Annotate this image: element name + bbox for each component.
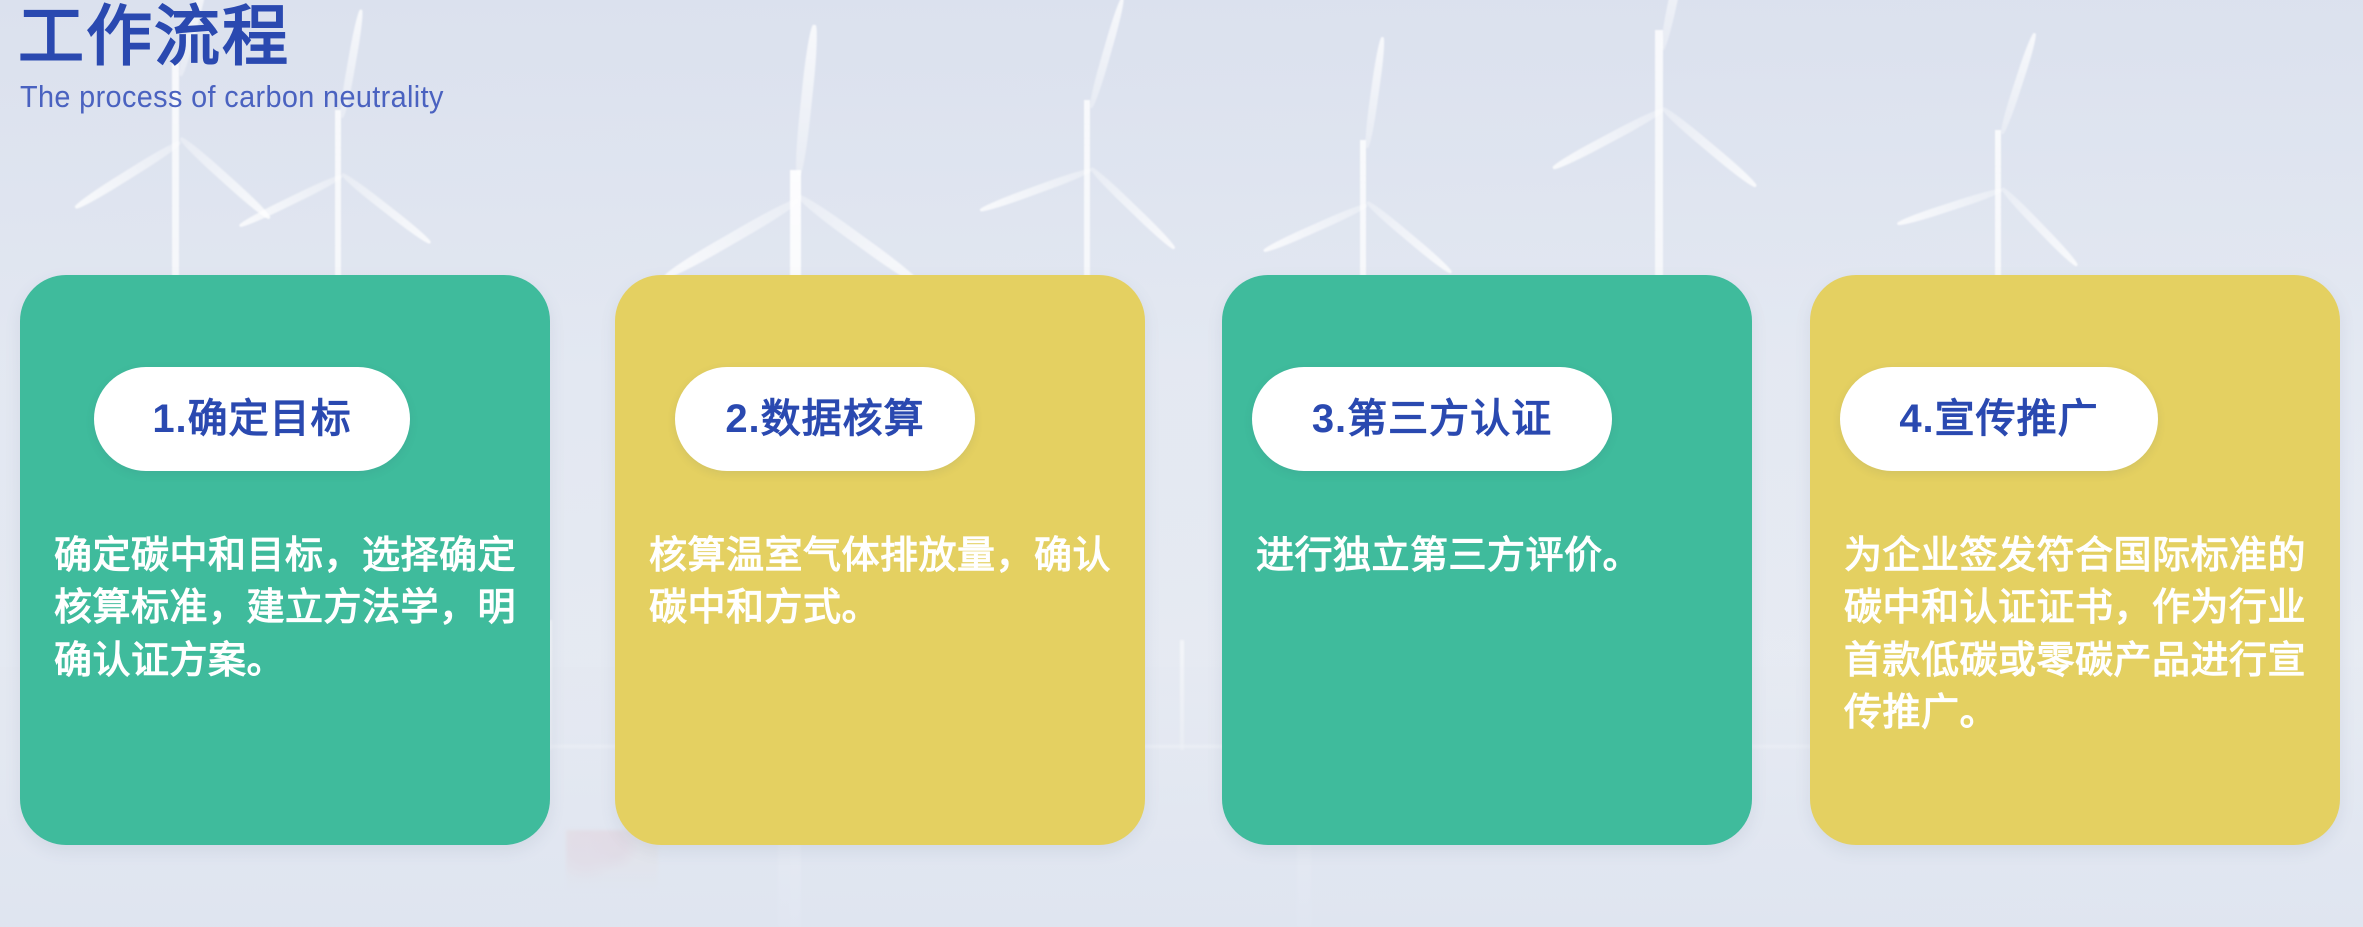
step-badge-label: 2.数据核算 [725,399,924,439]
step-badge-label: 4.宣传推广 [1899,399,2098,439]
process-card-1[interactable]: 1.确定目标 确定碳中和目标，选择确定核算标准，建立方法学，明确认证方案。 [20,275,550,845]
step-badge-3[interactable]: 3.第三方认证 [1252,367,1612,471]
step-description-3: 进行独立第三方评价。 [1256,530,1730,582]
step-badge-label: 3.第三方认证 [1312,399,1552,439]
step-badge-label: 1.确定目标 [152,399,351,439]
process-card-3[interactable]: 3.第三方认证 进行独立第三方评价。 [1222,275,1752,845]
step-badge-2[interactable]: 2.数据核算 [675,367,975,471]
step-badge-1[interactable]: 1.确定目标 [94,367,410,471]
process-card-list: 1.确定目标 确定碳中和目标，选择确定核算标准，建立方法学，明确认证方案。 2.… [0,0,2363,927]
process-card-2[interactable]: 2.数据核算 核算温室气体排放量，确认碳中和方式。 [615,275,1145,845]
step-description-4: 为企业签发符合国际标准的碳中和认证证书，作为行业首款低碳或零碳产品进行宣传推广。 [1844,530,2318,740]
process-card-4[interactable]: 4.宣传推广 为企业签发符合国际标准的碳中和认证证书，作为行业首款低碳或零碳产品… [1810,275,2340,845]
step-description-2: 核算温室气体排放量，确认碳中和方式。 [649,530,1123,635]
step-description-1: 确定碳中和目标，选择确定核算标准，建立方法学，明确认证方案。 [54,530,528,687]
slide-canvas: 工作流程 The process of carbon neutrality 1.… [0,0,2363,927]
step-badge-4[interactable]: 4.宣传推广 [1840,367,2158,471]
